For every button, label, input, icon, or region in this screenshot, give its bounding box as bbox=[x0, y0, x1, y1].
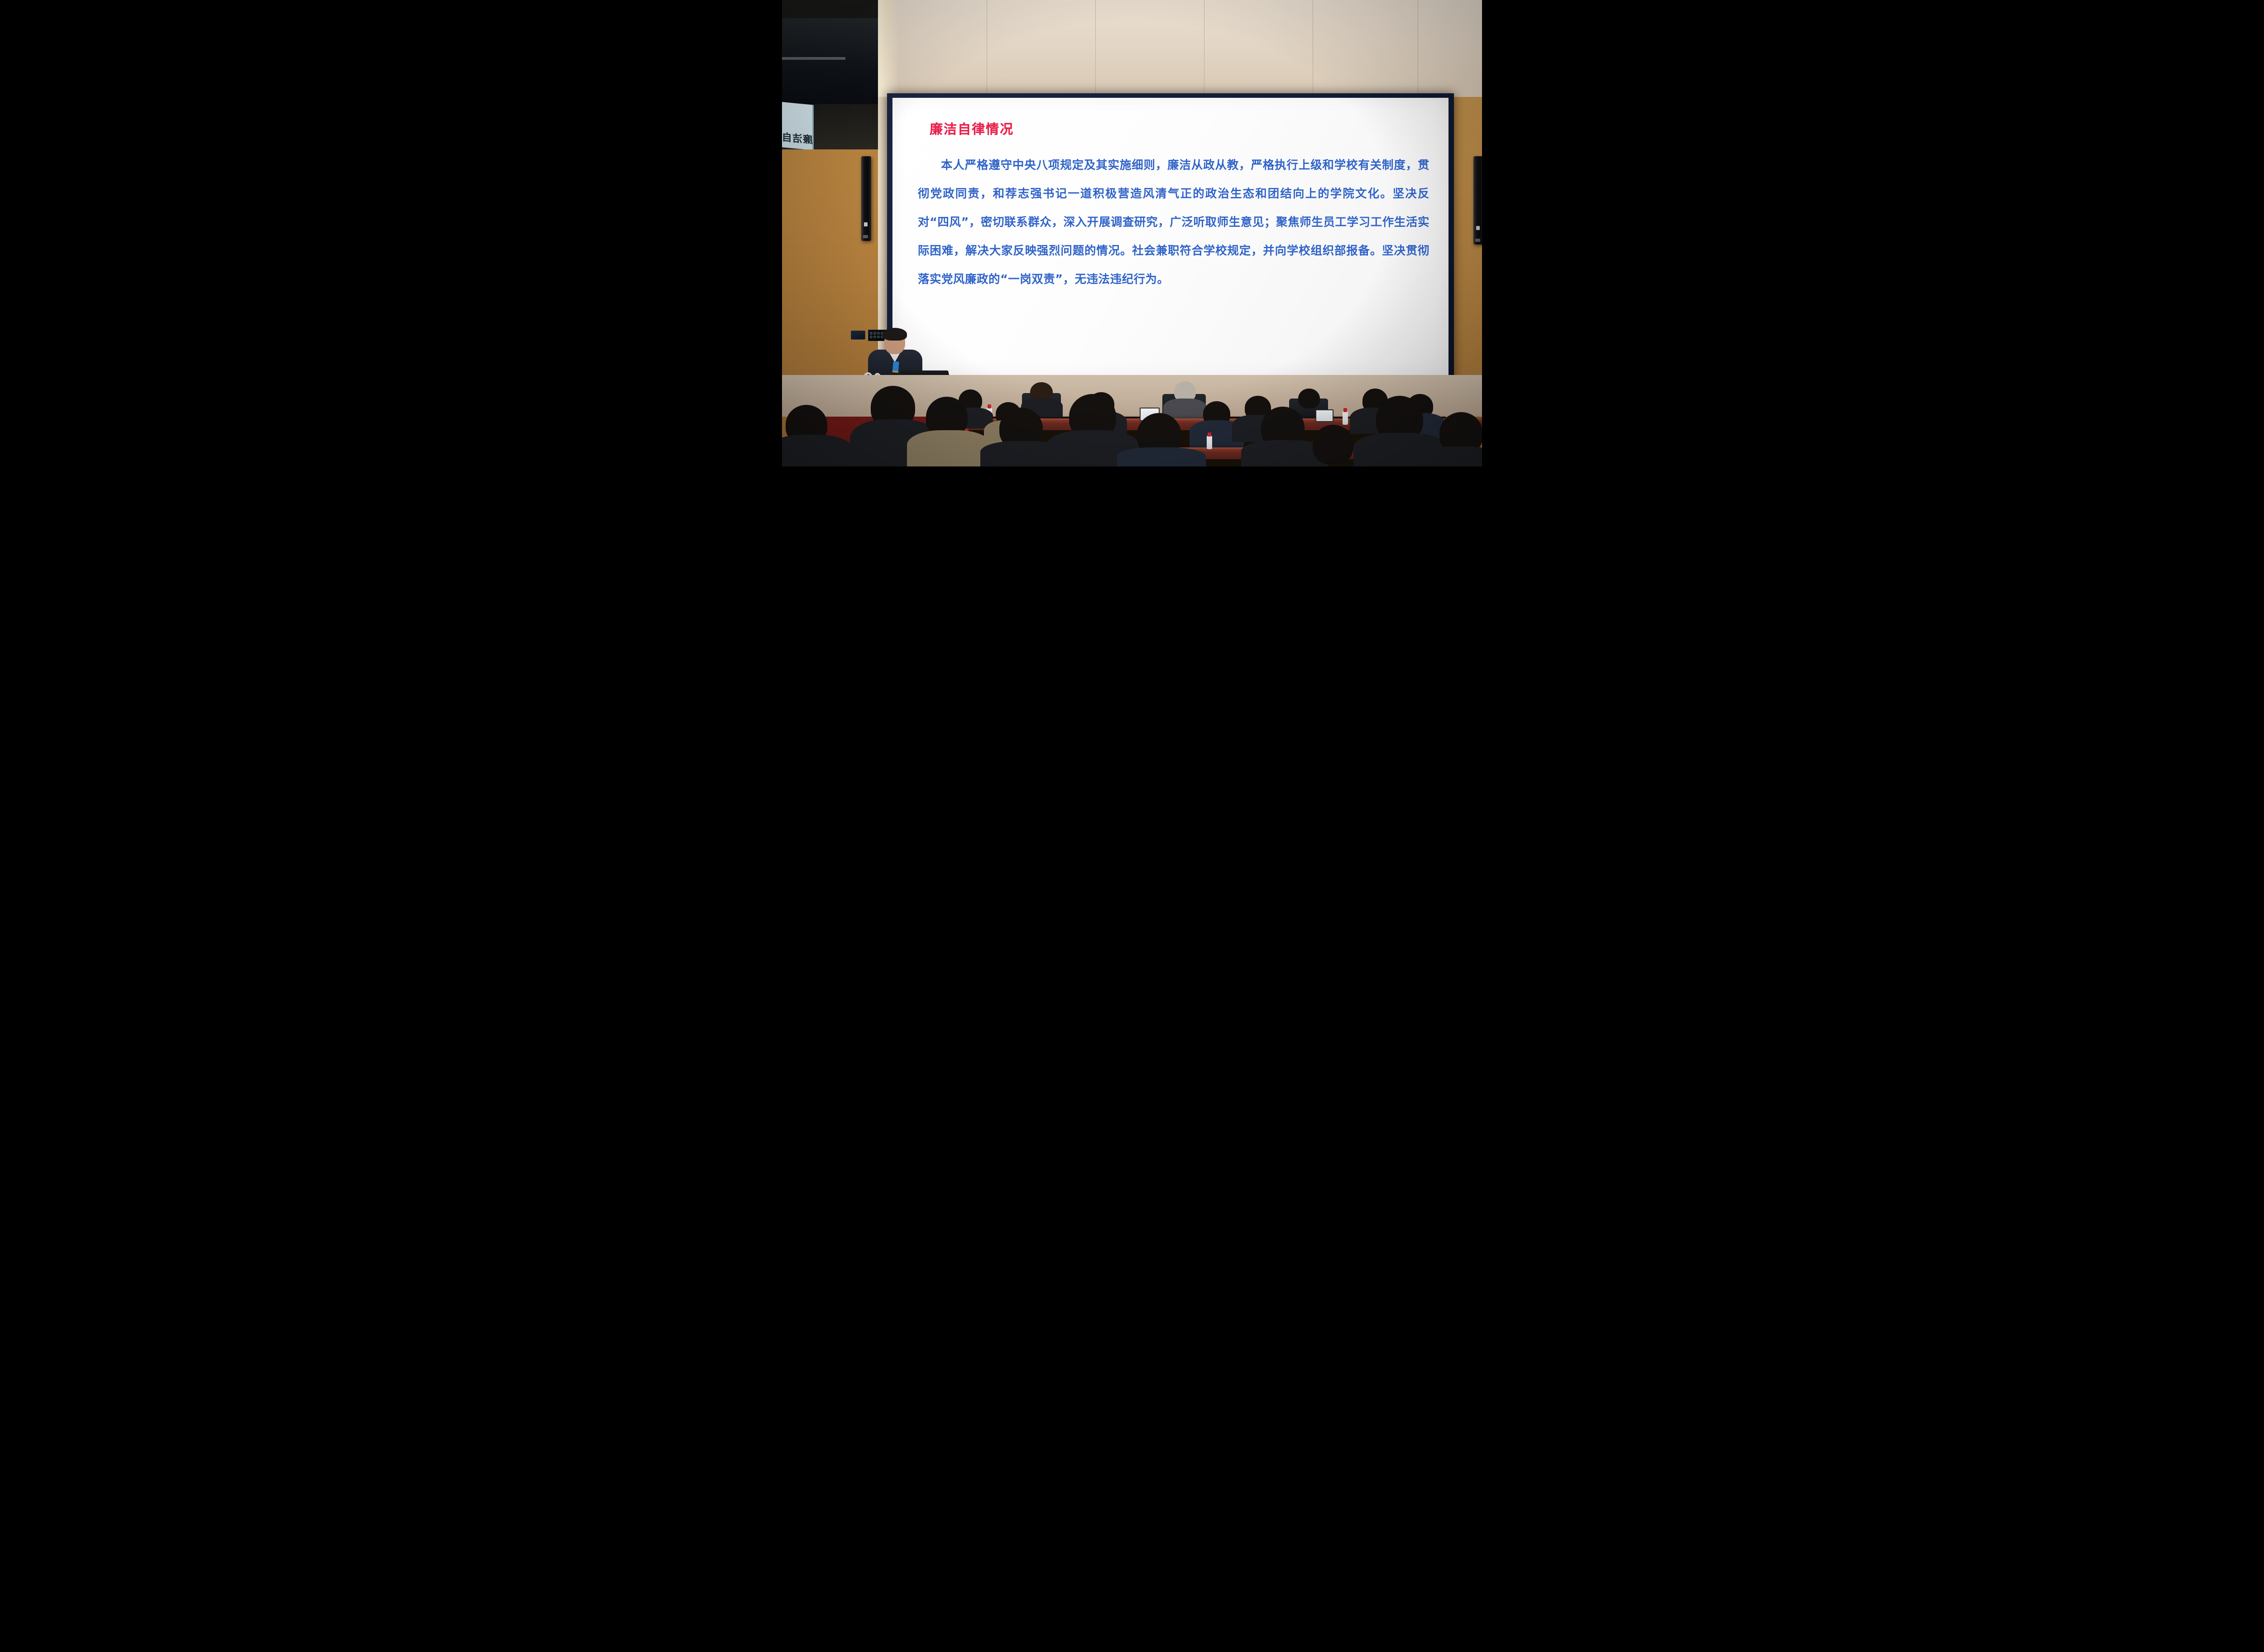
slide-paragraph: 本人严格遵守中央八项规定及其实施细则，廉洁从政从教，严格执行上级和学校有关制度，… bbox=[918, 151, 1429, 294]
column-speaker-left bbox=[861, 156, 871, 241]
slide-body: 本人严格遵守中央八项规定及其实施细则，廉洁从政从教，严格执行上级和学校有关制度，… bbox=[918, 151, 1429, 294]
audience-shoulders-front bbox=[782, 435, 853, 466]
speaker-logo bbox=[863, 235, 868, 238]
presentation-slide: 廉洁自律情况 本人严格遵守中央八项规定及其实施细则，廉洁从政从教，严格执行上级和… bbox=[892, 98, 1449, 375]
presenter-hair bbox=[883, 328, 907, 341]
speaker-led-icon bbox=[1476, 226, 1480, 230]
audience-shoulders-front bbox=[1117, 447, 1206, 466]
audience-head bbox=[1298, 389, 1320, 408]
speaker-logo bbox=[1475, 239, 1480, 242]
window-mullion bbox=[782, 57, 845, 60]
wall-plate-panel[interactable] bbox=[851, 331, 865, 340]
projection-screen-frame: 廉洁自律情况 本人严格遵守中央八项规定及其实施细则，廉洁从政从教，严格执行上级和… bbox=[887, 93, 1454, 379]
audience-shoulders-front bbox=[907, 430, 991, 466]
projection-screen: 廉洁自律情况 本人严格遵守中央八项规定及其实施细则，廉洁从政从教，严格执行上级和… bbox=[892, 98, 1449, 375]
column-speaker-right bbox=[1473, 156, 1482, 245]
audience-shoulders-front bbox=[1423, 447, 1482, 466]
ceiling-cove-light bbox=[878, 0, 899, 97]
speaker-led-icon bbox=[864, 222, 868, 226]
upper-wall-panels bbox=[878, 0, 1482, 97]
window-band bbox=[782, 18, 878, 104]
water-bottle bbox=[1207, 436, 1212, 449]
audience-head-front bbox=[1313, 425, 1353, 465]
side-monitor-text: 廉洁自律 bbox=[782, 128, 813, 147]
slide-title: 廉洁自律情况 bbox=[930, 119, 1429, 138]
audience-area bbox=[782, 375, 1482, 466]
water-bottle bbox=[1343, 411, 1348, 425]
side-confidence-monitor: 廉洁自律 bbox=[782, 101, 814, 150]
desk-monitor bbox=[1315, 409, 1333, 422]
conference-hall-scene: 廉洁自律 廉洁自律情况 bbox=[782, 0, 1482, 466]
